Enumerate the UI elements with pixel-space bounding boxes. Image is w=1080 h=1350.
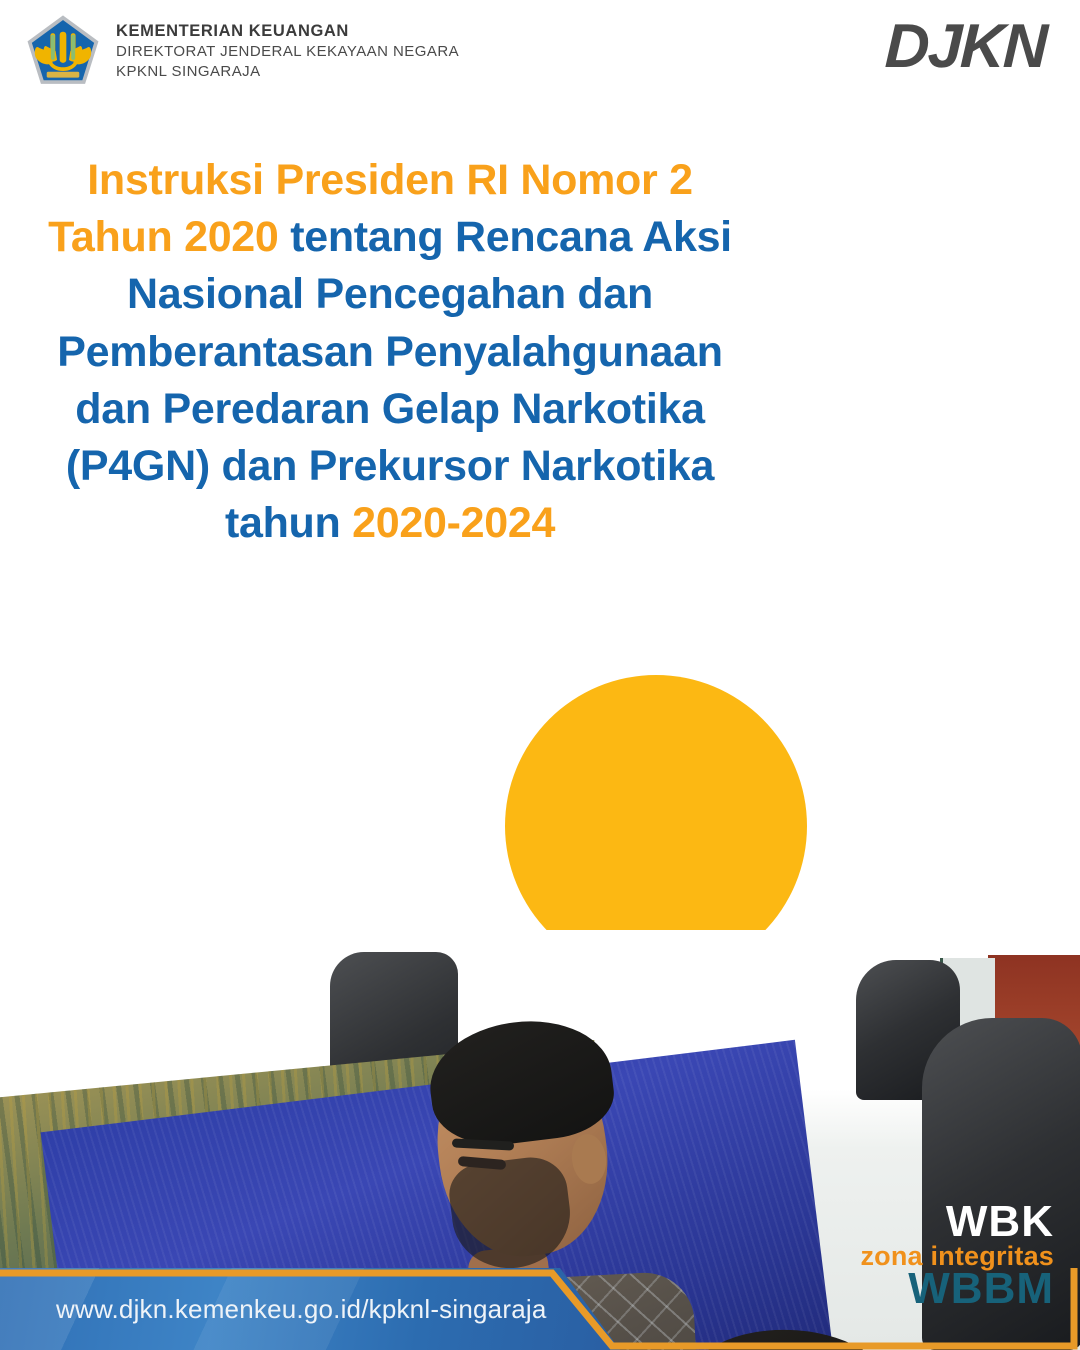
title-seg: dan Peredaran Gelap Narkotika <box>75 385 704 433</box>
title-line-5: dan Peredaran Gelap Narkotika <box>18 381 762 438</box>
title-seg: Instruksi Presiden RI Nomor 2 <box>87 156 692 204</box>
badge-wbbm-label: WBBM <box>860 1267 1054 1312</box>
title-seg: tentang Rencana Aksi <box>279 213 732 261</box>
title-line-1: Instruksi Presiden RI Nomor 2 <box>18 152 762 209</box>
title-line-6: (P4GN) dan Prekursor Narkotika <box>18 438 762 495</box>
title-seg: 2020-2024 <box>352 499 555 547</box>
kemenkeu-logo-icon <box>26 14 100 88</box>
poster-canvas: KEMENTERIAN KEUANGAN DIREKTORAT JENDERAL… <box>0 0 1080 1350</box>
kemenkeu-lockup: KEMENTERIAN KEUANGAN DIREKTORAT JENDERAL… <box>26 14 459 88</box>
title-seg: Pemberantasan Penyalahgunaan <box>57 328 723 376</box>
badge-wbk-label: WBK <box>860 1200 1054 1245</box>
title-line-4: Pemberantasan Penyalahgunaan <box>18 324 762 381</box>
title-seg: tahun <box>225 499 352 547</box>
title-seg: Nasional Pencegahan dan <box>127 270 653 318</box>
ministry-line-1: KEMENTERIAN KEUANGAN <box>116 20 459 42</box>
djkn-logo: DJKN <box>884 16 1047 78</box>
ministry-wordmark: KEMENTERIAN KEUANGAN DIREKTORAT JENDERAL… <box>116 14 459 82</box>
title-seg: (P4GN) dan Prekursor Narkotika <box>66 442 714 490</box>
website-url[interactable]: www.djkn.kemenkeu.go.id/kpknl-singaraja <box>56 1294 547 1325</box>
title-line-3: Nasional Pencegahan dan <box>18 266 762 323</box>
zona-integritas-badge: WBK zona integritas WBBM <box>860 1200 1054 1312</box>
title-seg: Tahun 2020 <box>48 213 278 261</box>
title-line-7: tahun 2020-2024 <box>18 495 762 552</box>
ministry-line-3: KPKNL SINGARAJA <box>116 62 459 82</box>
poster-title: Instruksi Presiden RI Nomor 2 Tahun 2020… <box>18 152 762 552</box>
header: KEMENTERIAN KEUANGAN DIREKTORAT JENDERAL… <box>0 0 1080 110</box>
ministry-line-2: DIREKTORAT JENDERAL KEKAYAAN NEGARA <box>116 42 459 62</box>
title-line-2: Tahun 2020 tentang Rencana Aksi <box>18 209 762 266</box>
